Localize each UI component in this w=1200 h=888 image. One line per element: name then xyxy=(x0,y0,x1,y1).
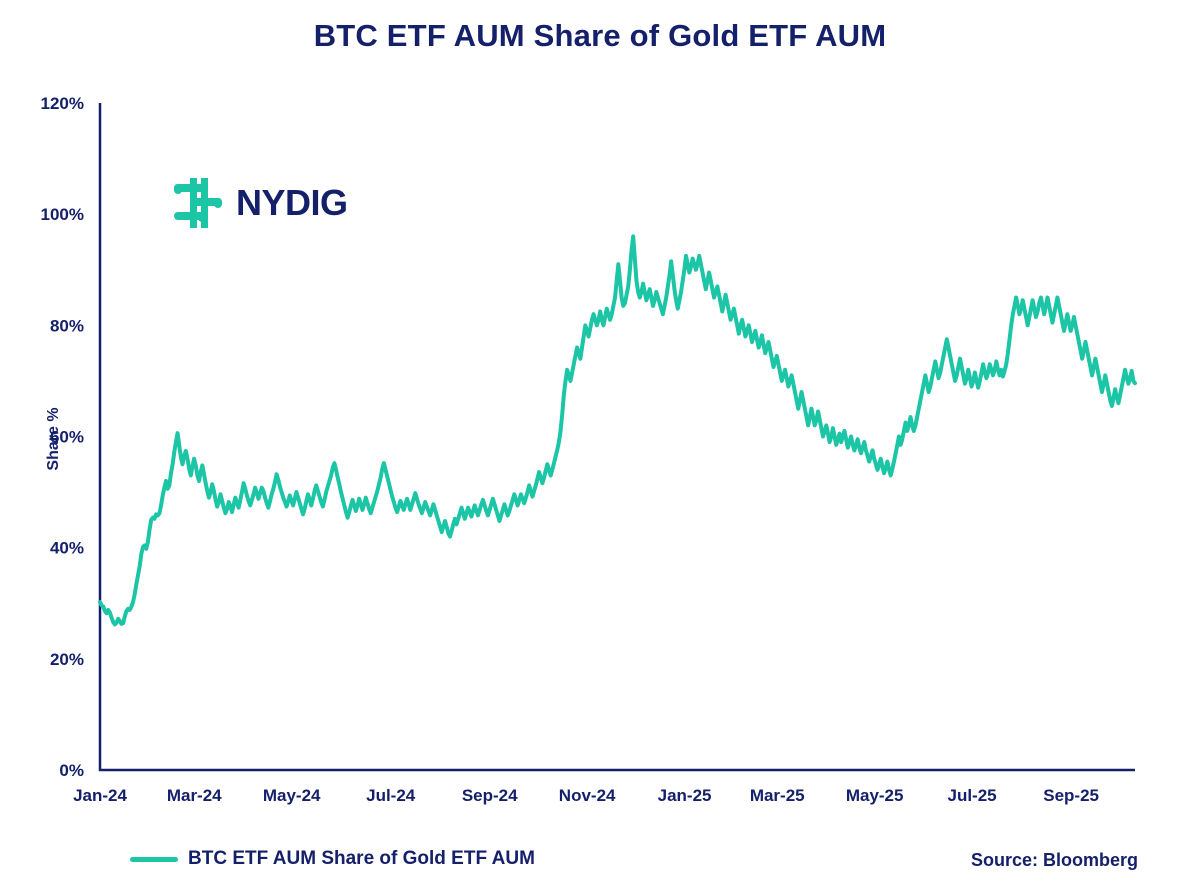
y-tick-label: 120% xyxy=(41,94,84,113)
x-tick-label: May-24 xyxy=(263,786,321,805)
x-axis-ticks: Jan-24Mar-24May-24Jul-24Sep-24Nov-24Jan-… xyxy=(73,786,1099,805)
legend-swatch xyxy=(130,857,178,862)
x-tick-label: Nov-24 xyxy=(559,786,616,805)
nydig-wordmark: NYDIG xyxy=(236,182,348,224)
y-axis-title: Share % xyxy=(45,379,63,499)
y-tick-label: 20% xyxy=(50,650,84,669)
x-tick-label: May-25 xyxy=(846,786,904,805)
x-tick-label: Sep-25 xyxy=(1043,786,1099,805)
y-tick-label: 40% xyxy=(50,539,84,558)
x-tick-label: Jul-24 xyxy=(366,786,416,805)
legend-label: BTC ETF AUM Share of Gold ETF AUM xyxy=(188,848,535,870)
chart-card: BTC ETF AUM Share of Gold ETF AUM 0%20%4… xyxy=(0,0,1200,888)
nydig-logo-icon xyxy=(172,178,224,228)
x-tick-label: Jan-25 xyxy=(658,786,712,805)
nydig-logo: NYDIG xyxy=(172,178,348,228)
y-tick-label: 100% xyxy=(41,205,84,224)
x-tick-label: Jan-24 xyxy=(73,786,127,805)
y-tick-label: 0% xyxy=(59,761,84,780)
line-chart-svg: 0%20%40%60%80%100%120% Jan-24Mar-24May-2… xyxy=(0,0,1200,888)
plot-area: 0%20%40%60%80%100%120% Jan-24Mar-24May-2… xyxy=(0,0,1200,888)
chart-legend: BTC ETF AUM Share of Gold ETF AUM xyxy=(130,848,535,870)
x-tick-label: Sep-24 xyxy=(462,786,518,805)
x-tick-label: Mar-25 xyxy=(750,786,805,805)
x-tick-label: Mar-24 xyxy=(167,786,222,805)
x-tick-label: Jul-25 xyxy=(948,786,997,805)
source-note: Source: Bloomberg xyxy=(971,850,1138,871)
y-tick-label: 80% xyxy=(50,316,84,335)
series-line-btc-share xyxy=(100,236,1135,624)
